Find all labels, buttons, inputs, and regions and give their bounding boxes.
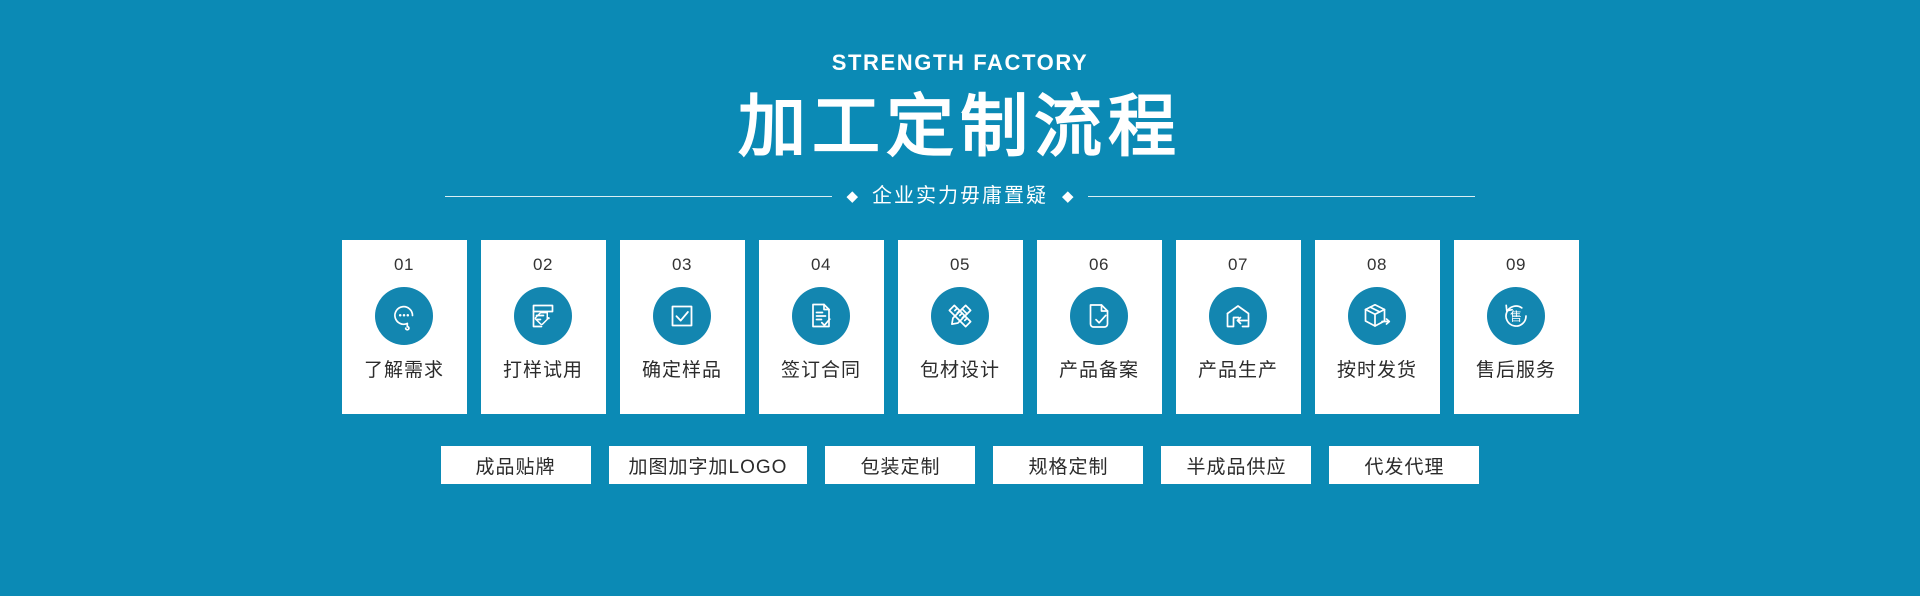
process-steps: 01 了解需求 02 — [342, 240, 1579, 414]
contract-check-icon — [792, 287, 850, 345]
step-card-04[interactable]: 04 签订合同 — [759, 240, 884, 414]
factory-arrow-icon — [1209, 287, 1267, 345]
step-card-03[interactable]: 03 确定样品 — [620, 240, 745, 414]
step-card-02[interactable]: 02 打样试用 — [481, 240, 606, 414]
tag-button-1[interactable]: 成品贴牌 — [441, 446, 591, 484]
divider-line-right — [1088, 196, 1475, 197]
tag-button-2[interactable]: 加图加字加LOGO — [609, 446, 808, 484]
step-label: 签订合同 — [781, 361, 861, 380]
step-number: 06 — [1089, 256, 1109, 273]
page-title: 加工定制流程 — [0, 90, 1920, 166]
diamond-right-icon: ◆ — [1048, 189, 1088, 204]
tag-button-6[interactable]: 代发代理 — [1329, 446, 1479, 484]
step-card-01[interactable]: 01 了解需求 — [342, 240, 467, 414]
step-label: 产品生产 — [1198, 361, 1278, 380]
step-label: 产品备案 — [1059, 361, 1139, 380]
step-number: 01 — [394, 256, 414, 273]
step-card-06[interactable]: 06 产品备案 — [1037, 240, 1162, 414]
subtitle-row: ◆ 企业实力毋庸置疑 ◆ — [445, 186, 1475, 206]
chat-bubble-icon — [375, 287, 433, 345]
step-card-07[interactable]: 07 产品生产 — [1176, 240, 1301, 414]
step-label: 了解需求 — [364, 361, 444, 380]
step-card-09[interactable]: 09 售 售后服务 — [1454, 240, 1579, 414]
after-sales-refresh-icon: 售 — [1487, 287, 1545, 345]
step-card-08[interactable]: 08 按时发货 — [1315, 240, 1440, 414]
step-number: 08 — [1367, 256, 1387, 273]
step-number: 09 — [1506, 256, 1526, 273]
svg-text:售: 售 — [1510, 309, 1522, 324]
eyebrow-text: STRENGTH FACTORY — [0, 52, 1920, 74]
step-number: 02 — [533, 256, 553, 273]
step-label: 售后服务 — [1476, 361, 1556, 380]
banner-header: STRENGTH FACTORY 加工定制流程 — [0, 0, 1920, 166]
tag-button-4[interactable]: 规格定制 — [993, 446, 1143, 484]
service-tags: 成品贴牌 加图加字加LOGO 包装定制 规格定制 半成品供应 代发代理 — [441, 446, 1480, 484]
step-number: 04 — [811, 256, 831, 273]
step-label: 确定样品 — [642, 361, 722, 380]
step-number: 07 — [1228, 256, 1248, 273]
box-arrow-icon — [1348, 287, 1406, 345]
step-number: 05 — [950, 256, 970, 273]
step-label: 按时发货 — [1337, 361, 1417, 380]
subtitle-text: 企业实力毋庸置疑 — [872, 186, 1048, 206]
diamond-left-icon: ◆ — [832, 189, 872, 204]
tag-button-5[interactable]: 半成品供应 — [1161, 446, 1311, 484]
step-card-05[interactable]: 05 包材设计 — [898, 240, 1023, 414]
step-label: 包材设计 — [920, 361, 1000, 380]
step-number: 03 — [672, 256, 692, 273]
document-tag-icon — [514, 287, 572, 345]
checkbox-square-icon — [653, 287, 711, 345]
tag-button-3[interactable]: 包装定制 — [825, 446, 975, 484]
pencil-ruler-icon — [931, 287, 989, 345]
step-label: 打样试用 — [503, 361, 583, 380]
file-check-icon — [1070, 287, 1128, 345]
divider-line-left — [445, 196, 832, 197]
promo-banner: STRENGTH FACTORY 加工定制流程 ◆ 企业实力毋庸置疑 ◆ 01 … — [0, 0, 1920, 596]
